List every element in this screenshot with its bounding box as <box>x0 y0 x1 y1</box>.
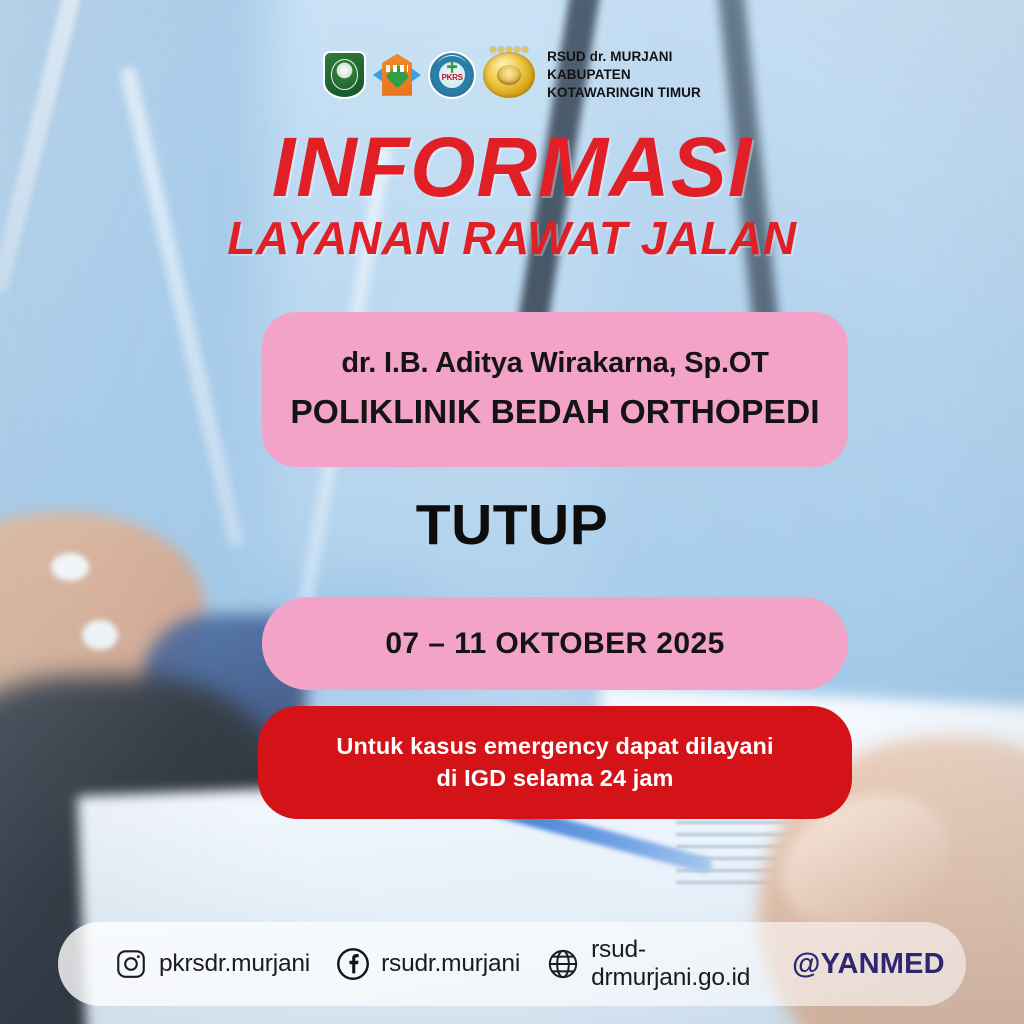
website-link[interactable]: rsud-drmurjani.go.id <box>546 936 750 992</box>
footer-social-bar: pkrsdr.murjani rsudr.murjani rsud-dr <box>58 922 966 1006</box>
gold-award-medallion-icon <box>483 52 535 98</box>
clinic-name: POLIKLINIK BEDAH ORTHOPEDI <box>290 394 819 432</box>
logo-group: PKRS <box>323 51 535 99</box>
facebook-handle[interactable]: rsudr.murjani <box>336 947 520 981</box>
kabupaten-kotawaringin-timur-crest-icon <box>323 51 366 99</box>
website-label: rsud-drmurjani.go.id <box>591 936 750 992</box>
doctor-clinic-card: dr. I.B. Aditya Wirakarna, Sp.OT POLIKLI… <box>262 312 848 467</box>
facebook-label: rsudr.murjani <box>381 950 520 978</box>
page-subtitle: LAYANAN RAWAT JALAN <box>0 214 1024 262</box>
date-range: 07 – 11 OKTOBER 2025 <box>385 627 724 661</box>
emergency-notice-line-1: Untuk kasus emergency dapat dilayani <box>336 733 773 760</box>
doctor-name: dr. I.B. Aditya Wirakarna, Sp.OT <box>341 347 768 380</box>
status-badge: TUTUP <box>0 492 1024 558</box>
kemenkes-emblem-icon <box>373 51 421 99</box>
poster-content: PKRS RSUD dr. MURJANI KABUPATEN KOTAWARI… <box>0 0 1024 1024</box>
instagram-label: pkrsdr.murjani <box>159 950 310 978</box>
arrow-right-icon <box>411 68 421 82</box>
emergency-notice-card: Untuk kasus emergency dapat dilayani di … <box>258 706 852 819</box>
globe-icon <box>546 947 580 981</box>
arrow-left-icon <box>373 68 383 82</box>
emergency-notice-line-2: di IGD selama 24 jam <box>436 765 673 792</box>
title-block: INFORMASI LAYANAN RAWAT JALAN <box>0 126 1024 263</box>
instagram-handle[interactable]: pkrsdr.murjani <box>114 947 310 981</box>
pkrs-seal-icon: PKRS <box>428 51 476 99</box>
pkrs-seal-label: PKRS <box>442 73 463 82</box>
facebook-icon <box>336 947 370 981</box>
yanmed-handle: @YANMED <box>792 948 945 981</box>
date-range-card: 07 – 11 OKTOBER 2025 <box>262 597 848 690</box>
header: PKRS RSUD dr. MURJANI KABUPATEN KOTAWARI… <box>0 48 1024 101</box>
instagram-icon <box>114 947 148 981</box>
organization-name: RSUD dr. MURJANI KABUPATEN KOTAWARINGIN … <box>547 48 701 101</box>
page-title: INFORMASI <box>0 126 1024 208</box>
